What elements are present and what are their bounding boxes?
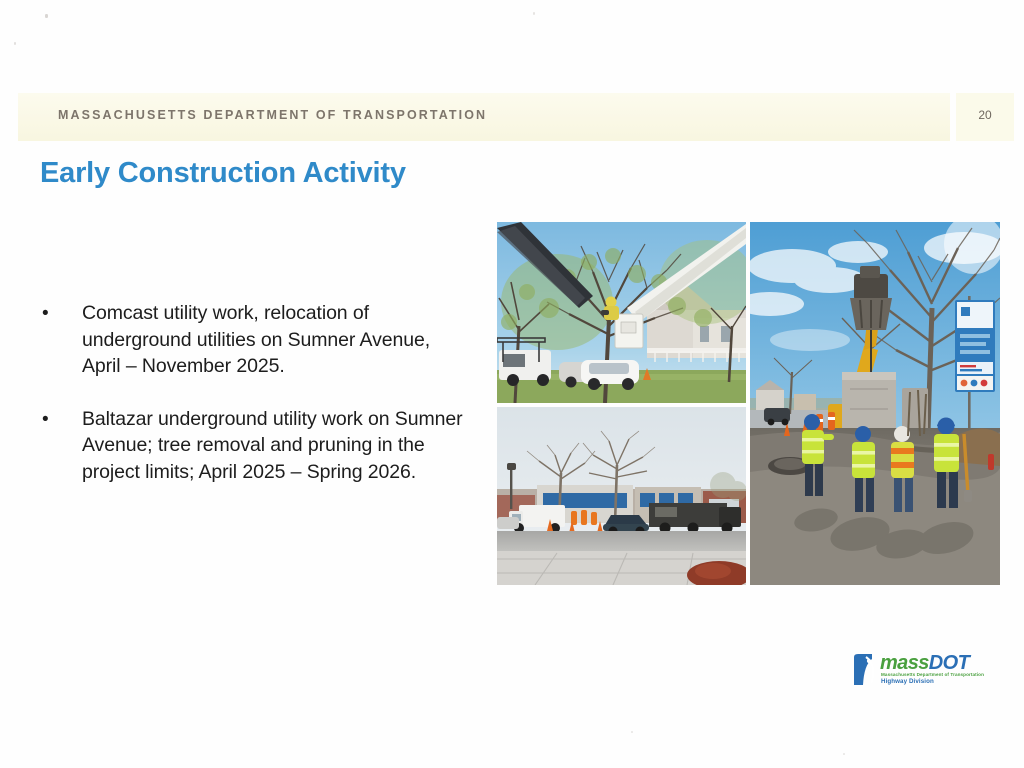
bullet-marker: •	[36, 300, 82, 380]
bullet-list: • Comcast utility work, relocation of un…	[36, 300, 466, 511]
bullet-marker: •	[36, 406, 82, 486]
photo-street-trucks	[497, 407, 746, 585]
massdot-logo: massDOT Massachusetts Department of Tran…	[852, 652, 992, 688]
list-item: • Baltazar underground utility work on S…	[36, 406, 466, 486]
photo-tree-bucket-truck	[497, 222, 746, 403]
scan-artifact-speck	[843, 753, 845, 755]
scan-artifact-speck	[45, 14, 48, 18]
scan-artifact-speck	[631, 731, 633, 733]
photo-excavator-crew	[750, 222, 1000, 585]
logo-subtitle-division: Highway Division	[881, 678, 934, 685]
bullet-text: Comcast utility work, relocation of unde…	[82, 300, 466, 380]
logo-subtitle-agency: Massachusetts Department of Transportati…	[881, 672, 984, 677]
massdot-arrow-icon	[852, 653, 878, 685]
bullet-text: Baltazar underground utility work on Sum…	[82, 406, 466, 486]
page-number: 20	[956, 108, 1014, 122]
logo-word-mass: mass	[880, 652, 929, 674]
header-organization-label: MASSACHUSETTS DEPARTMENT OF TRANSPORTATI…	[58, 108, 487, 122]
list-item: • Comcast utility work, relocation of un…	[36, 300, 466, 380]
page-title: Early Construction Activity	[40, 157, 406, 190]
scan-artifact-speck	[533, 12, 535, 15]
scan-artifact-speck	[14, 42, 16, 45]
logo-word-dot: DOT	[929, 652, 969, 674]
